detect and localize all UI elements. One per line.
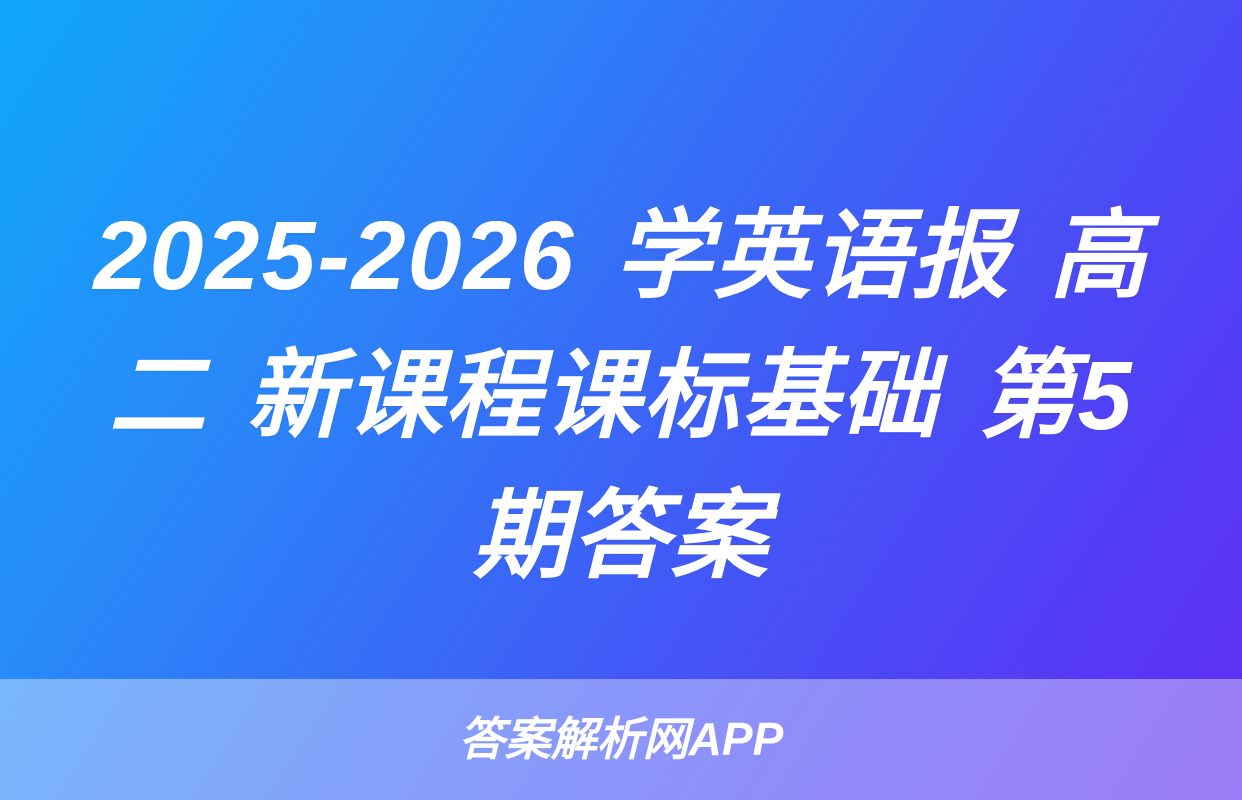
title-line-3: 期答案: [46, 466, 1196, 606]
title-line-1: 2025-2026 学英语报 高: [46, 186, 1196, 326]
page-title: 2025-2026 学英语报 高 二 新课程课标基础 第5 期答案: [0, 186, 1242, 606]
watermark: 答案解析网APP: [0, 700, 1242, 778]
answer-cover-card: 2025-2026 学英语报 高 二 新课程课标基础 第5 期答案 答案解析网A…: [0, 0, 1242, 800]
watermark-app-label: 答案解析网APP: [459, 711, 784, 767]
title-line-2: 二 新课程课标基础 第5: [46, 326, 1196, 466]
